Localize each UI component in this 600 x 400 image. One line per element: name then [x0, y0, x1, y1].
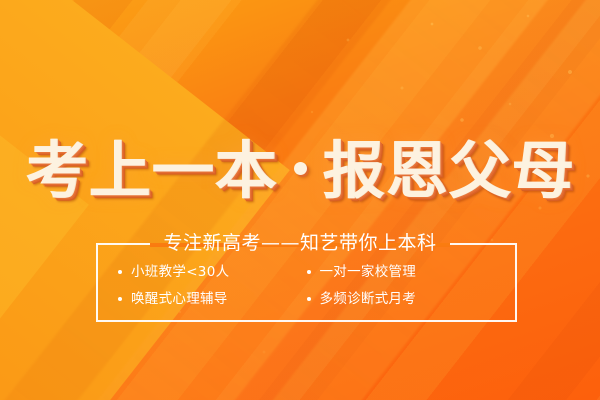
feature-label: 多频诊断式月考	[320, 289, 417, 309]
headline: 考上一本报恩父母	[25, 140, 574, 202]
dot-separator-icon	[294, 162, 307, 175]
list-item: 唤醒式心理辅导	[118, 289, 307, 309]
headline-right-text: 报恩父母	[323, 134, 575, 207]
bullet-dot-icon	[118, 297, 122, 301]
list-item: 一对一家校管理	[307, 262, 496, 282]
subtitle-frame-gap-mask	[150, 243, 450, 247]
headline-container: 考上一本报恩父母	[0, 140, 600, 202]
bullet-dot-icon	[307, 270, 311, 274]
headline-left-text: 考上一本	[25, 134, 277, 207]
feature-label: 一对一家校管理	[320, 262, 417, 282]
list-item: 小班教学<30人	[118, 262, 307, 282]
feature-list: 小班教学<30人 一对一家校管理 唤醒式心理辅导 多频诊断式月考	[96, 262, 517, 309]
feature-label: 小班教学<30人	[131, 262, 229, 282]
feature-label: 唤醒式心理辅导	[131, 289, 228, 309]
promo-banner: 考上一本报恩父母 专注新高考——知艺带你上本科 小班教学<30人 一对一家校管理…	[0, 0, 600, 400]
bullet-dot-icon	[118, 270, 122, 274]
list-item: 多频诊断式月考	[307, 289, 496, 309]
bullet-dot-icon	[307, 297, 311, 301]
